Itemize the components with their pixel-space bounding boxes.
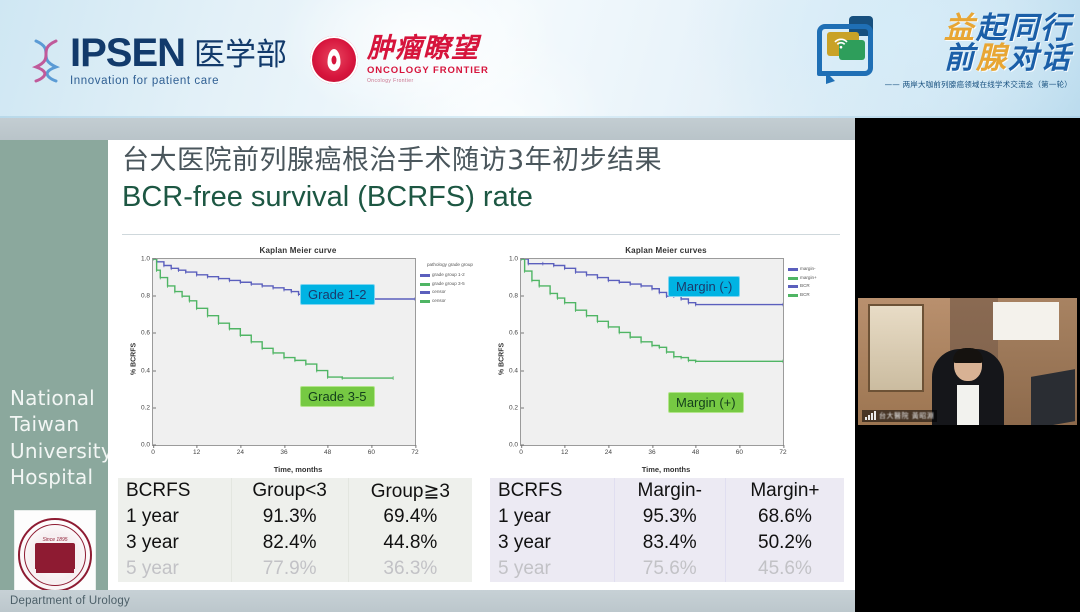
- chart-ylabel-left: % BCRFS: [131, 343, 138, 375]
- video-conference-panel[interactable]: 台大醫院 黃昭淵: [855, 118, 1080, 612]
- chart-xlabel-right: Time, months: [482, 465, 850, 474]
- km-chart-margin: Kaplan Meier curves % BCRFS 0.00.20.40.6…: [482, 244, 850, 474]
- legend-entry: censor: [420, 297, 480, 306]
- legend-label: margin+: [800, 274, 817, 283]
- callout-margin-negative: Margin (-): [668, 276, 740, 297]
- legend-label: grade group 1-2: [432, 271, 465, 280]
- legend-label: margin-: [800, 265, 816, 274]
- slide-title-block: 台大医院前列腺癌根治手术随访3年初步结果 BCR-free survival (…: [122, 144, 842, 215]
- margin-table: BCRFSMargin-Margin+1 year95.3%68.6%3 yea…: [490, 478, 844, 582]
- y-axis-tick: 0.4: [509, 367, 521, 374]
- table-header-cell: BCRFS: [490, 478, 614, 504]
- y-axis-tick: 0.2: [509, 404, 521, 411]
- chat-bubble-wifi-icon: [817, 14, 879, 74]
- chart-legend-right: margin-margin+BCRBCR: [788, 262, 848, 300]
- chart-title-left: Kaplan Meier curve: [114, 246, 482, 255]
- table-cell: 1 year: [490, 504, 614, 530]
- callout-grade-1-2: Grade 1-2: [300, 284, 375, 305]
- table-header-cell: BCRFS: [118, 478, 231, 504]
- table-cell: 83.4%: [614, 530, 725, 556]
- legend-swatch: [420, 291, 430, 294]
- ntuh-crest-icon: Since 1895: [14, 510, 96, 600]
- event-banner: IPSEN 医学部 Innovation for patient care 肿瘤…: [0, 0, 1080, 118]
- legend-label: censor: [432, 297, 446, 306]
- chart-plot-area-left: 0.00.20.40.60.81.00122436486072: [152, 258, 416, 446]
- y-axis-tick: 0.6: [509, 330, 521, 337]
- x-axis-tick: 60: [736, 445, 743, 456]
- x-axis-tick: 48: [692, 445, 699, 456]
- legend-entry: grade group 3-5: [420, 280, 480, 289]
- y-axis-tick: 0.8: [141, 293, 153, 300]
- legend-label: BCR: [800, 282, 810, 291]
- legend-entry: BCR: [788, 291, 848, 300]
- legend-swatch: [788, 294, 798, 297]
- chart-legend-left: pathology grade group grade group 1-2gra…: [420, 262, 480, 306]
- table-row: 3 year83.4%50.2%: [490, 530, 844, 556]
- ipsen-logo: IPSEN 医学部 Innovation for patient care: [30, 34, 287, 87]
- y-axis-tick: 1.0: [509, 256, 521, 263]
- table-header-row: BCRFSMargin-Margin+: [490, 478, 844, 504]
- km-charts-row: Kaplan Meier curve % BCRFS 0.00.20.40.60…: [114, 244, 850, 474]
- slide-top-band: [0, 118, 855, 140]
- table-row: 1 year91.3%69.4%: [118, 504, 472, 530]
- table-header-cell: Margin+: [725, 478, 844, 504]
- legend-entry: margin+: [788, 274, 848, 283]
- conference-subtitle: —— 两岸大咖前列腺癌领域在线学术交流会（第一轮）: [885, 79, 1072, 90]
- chart-title-right: Kaplan Meier curves: [482, 246, 850, 255]
- table-cell: 95.3%: [614, 504, 725, 530]
- table-row: 3 year82.4%44.8%: [118, 530, 472, 556]
- y-axis-tick: 0.2: [141, 404, 153, 411]
- institution-name: National Taiwan University Hospital: [10, 385, 108, 491]
- table-header-cell: Margin-: [614, 478, 725, 504]
- table-cell: 75.6%: [614, 556, 725, 582]
- table-cell: 77.9%: [231, 556, 348, 582]
- ipsen-tagline: Innovation for patient care: [70, 75, 287, 87]
- conference-title-line1: 益起同行: [944, 14, 1072, 44]
- table-cell: 82.4%: [231, 530, 348, 556]
- slide-footer-text: Department of Urology: [0, 595, 130, 607]
- participant-video-tile[interactable]: 台大醫院 黃昭淵: [858, 298, 1077, 425]
- slide-sidebar: National Taiwan University Hospital Sinc…: [0, 140, 108, 590]
- legend-swatch: [788, 285, 798, 288]
- ipsen-wordmark: IPSEN: [70, 34, 185, 72]
- x-axis-tick: 24: [605, 445, 612, 456]
- legend-swatch: [420, 283, 430, 286]
- table-header-cell: Group<3: [231, 478, 348, 504]
- y-axis-tick: 0.8: [509, 293, 521, 300]
- legend-label: grade group 3-5: [432, 280, 465, 289]
- crab-seal-icon: [310, 36, 358, 84]
- table-cell: 69.4%: [348, 504, 472, 530]
- x-axis-tick: 72: [411, 445, 418, 456]
- x-axis-tick: 60: [368, 445, 375, 456]
- legend-title-left: pathology grade group: [420, 262, 480, 268]
- chart-ylabel-right: % BCRFS: [499, 343, 506, 375]
- table-row: 5 year75.6%45.6%: [490, 556, 844, 582]
- oncology-sub-name: Oncology Frontier: [367, 78, 489, 84]
- legend-swatch: [420, 300, 430, 303]
- page-title-en: BCR-free survival (BCRFS) rate: [122, 180, 842, 215]
- oncology-cn-name: 肿瘤瞭望: [367, 35, 489, 62]
- table-header-row: BCRFSGroup<3Group≧3: [118, 478, 472, 504]
- oncology-en-name: ONCOLOGY FRONTIER: [367, 65, 489, 76]
- x-axis-tick: 36: [648, 445, 655, 456]
- x-axis-tick: 0: [151, 445, 155, 456]
- x-axis-tick: 72: [779, 445, 786, 456]
- page-title-cn: 台大医院前列腺癌根治手术随访3年初步结果: [122, 144, 842, 178]
- ipsen-cn-label: 医学部: [194, 39, 287, 72]
- callout-margin-positive: Margin (+): [668, 392, 744, 413]
- conference-title-char3: 腺: [976, 41, 1008, 76]
- chart-xlabel-left: Time, months: [114, 465, 482, 474]
- participant-name: 台大醫院 黃昭淵: [879, 411, 934, 421]
- legend-entry: margin-: [788, 265, 848, 274]
- table-row: 1 year95.3%68.6%: [490, 504, 844, 530]
- y-axis-tick: 0.4: [141, 367, 153, 374]
- x-axis-tick: 36: [280, 445, 287, 456]
- legend-swatch: [788, 268, 798, 271]
- slide-footer: Department of Urology: [0, 590, 855, 612]
- legend-entry: censor: [420, 288, 480, 297]
- legend-swatch: [420, 274, 430, 277]
- slide-content: 台大医院前列腺癌根治手术随访3年初步结果 BCR-free survival (…: [108, 140, 855, 590]
- legend-label: BCR: [800, 291, 810, 300]
- table-cell: 91.3%: [231, 504, 348, 530]
- crest-since-text: Since 1895: [42, 537, 67, 543]
- legend-entry: grade group 1-2: [420, 271, 480, 280]
- x-axis-tick: 12: [561, 445, 568, 456]
- table-row: 5 year77.9%36.3%: [118, 556, 472, 582]
- table-cell: 68.6%: [725, 504, 844, 530]
- table-cell: 5 year: [490, 556, 614, 582]
- table-cell: 44.8%: [348, 530, 472, 556]
- chart-plot-area-right: 0.00.20.40.60.81.00122436486072: [520, 258, 784, 446]
- callout-grade-3-5: Grade 3-5: [300, 386, 375, 407]
- conference-lockup: 益起同行 前腺对话 —— 两岸大咖前列腺癌领域在线学术交流会（第一轮）: [817, 14, 1072, 90]
- table-cell: 5 year: [118, 556, 231, 582]
- oncology-frontier-logo: 肿瘤瞭望 ONCOLOGY FRONTIER Oncology Frontier: [310, 35, 489, 84]
- x-axis-tick: 48: [324, 445, 331, 456]
- signal-bars-icon: [865, 412, 876, 420]
- x-axis-tick: 24: [237, 445, 244, 456]
- table-header-cell: Group≧3: [348, 478, 472, 504]
- conference-title-rest2: 对话: [1008, 41, 1072, 76]
- table-cell: 36.3%: [348, 556, 472, 582]
- y-axis-tick: 1.0: [141, 256, 153, 263]
- participant-name-overlay: 台大醫院 黃昭淵: [862, 410, 937, 422]
- legend-entry: BCR: [788, 282, 848, 291]
- legend-label: censor: [432, 288, 446, 297]
- x-axis-tick: 12: [193, 445, 200, 456]
- table-cell: 3 year: [490, 530, 614, 556]
- table-cell: 3 year: [118, 530, 231, 556]
- table-cell: 50.2%: [725, 530, 844, 556]
- conference-title-line2: 前腺对话: [944, 44, 1072, 74]
- title-divider: [122, 234, 840, 235]
- table-cell: 45.6%: [725, 556, 844, 582]
- legend-swatch: [788, 277, 798, 280]
- km-chart-grade: Kaplan Meier curve % BCRFS 0.00.20.40.60…: [114, 244, 482, 474]
- dna-helix-icon: [30, 38, 64, 84]
- y-axis-tick: 0.6: [141, 330, 153, 337]
- results-tables: BCRFSGroup<3Group≧31 year91.3%69.4%3 yea…: [118, 478, 844, 578]
- x-axis-tick: 0: [519, 445, 523, 456]
- table-cell: 1 year: [118, 504, 231, 530]
- grade-group-table: BCRFSGroup<3Group≧31 year91.3%69.4%3 yea…: [118, 478, 472, 582]
- presentation-slide: National Taiwan University Hospital Sinc…: [0, 118, 855, 612]
- conference-title-char2: 前: [944, 41, 976, 76]
